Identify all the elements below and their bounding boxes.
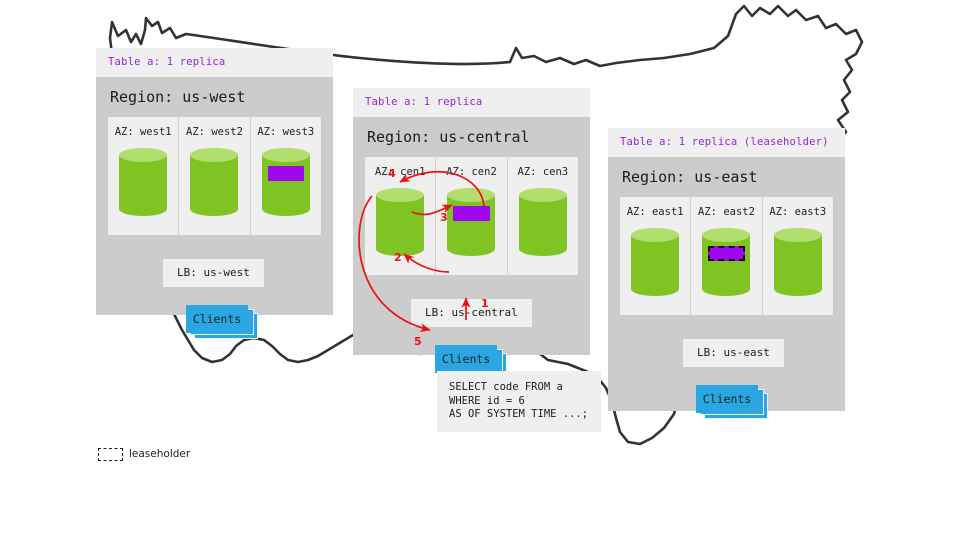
cylinder-top	[262, 148, 310, 162]
az-cell-east1[interactable]: AZ: east1	[620, 197, 691, 315]
az-label-cen2: AZ: cen2	[436, 166, 506, 179]
cylinder-top	[376, 188, 424, 202]
region-banner-us-central: Table a: 1 replica	[353, 88, 590, 117]
az-label-east1: AZ: east1	[620, 206, 690, 219]
az-cell-west2[interactable]: AZ: west2	[179, 117, 250, 235]
cylinder-body	[119, 155, 167, 209]
flow-step-number-1: 1	[481, 298, 489, 310]
cylinder-west1[interactable]	[119, 148, 167, 216]
cylinder-body	[702, 235, 750, 289]
cylinder-west3[interactable]	[262, 148, 310, 216]
load-balancer-us-west[interactable]: LB: us-west	[163, 259, 264, 287]
region-body-us-central: Region: us-central AZ: cen1 AZ: cen2	[353, 117, 590, 355]
az-cell-east2[interactable]: AZ: east2	[691, 197, 762, 315]
sql-query-box: SELECT code FROM a WHERE id = 6 AS OF SY…	[437, 371, 601, 432]
flow-step-number-4: 4	[388, 168, 396, 180]
az-label-west1: AZ: west1	[108, 126, 178, 139]
cylinder-body	[519, 195, 567, 249]
replica-range-cen2[interactable]	[453, 206, 489, 221]
az-row-us-east: AZ: east1 AZ: east2	[620, 197, 833, 315]
cylinder-body	[190, 155, 238, 209]
az-cell-cen3[interactable]: AZ: cen3	[508, 157, 578, 275]
cylinder-cen2[interactable]	[447, 188, 495, 256]
region-panel-us-east: Table a: 1 replica (leaseholder) Region:…	[608, 128, 845, 411]
region-title-us-central: Region: us-central	[365, 117, 578, 157]
cylinder-body	[631, 235, 679, 289]
replica-range-east2-leaseholder[interactable]	[708, 246, 744, 261]
cylinder-top	[631, 228, 679, 242]
flow-step-number-5: 5	[414, 336, 422, 348]
cylinder-east2[interactable]	[702, 228, 750, 296]
az-label-cen1: AZ: cen1	[365, 166, 435, 179]
cylinder-cen3[interactable]	[519, 188, 567, 256]
az-cell-west3[interactable]: AZ: west3	[251, 117, 321, 235]
diagram-canvas: Table a: 1 replica Region: us-west AZ: w…	[0, 0, 960, 540]
legend: leaseholder	[98, 448, 190, 461]
cylinder-east3[interactable]	[774, 228, 822, 296]
cylinder-east1[interactable]	[631, 228, 679, 296]
dashed-rect-icon	[98, 448, 123, 461]
region-title-us-east: Region: us-east	[620, 157, 833, 197]
cylinder-west2[interactable]	[190, 148, 238, 216]
flow-step-number-3: 3	[440, 212, 448, 224]
az-cell-west1[interactable]: AZ: west1	[108, 117, 179, 235]
flow-step-number-2: 2	[394, 252, 402, 264]
region-banner-us-west: Table a: 1 replica	[96, 48, 333, 77]
region-banner-us-east: Table a: 1 replica (leaseholder)	[608, 128, 845, 157]
region-panel-us-west: Table a: 1 replica Region: us-west AZ: w…	[96, 48, 333, 315]
clients-label-us-east: Clients	[696, 385, 758, 413]
load-balancer-us-central[interactable]: LB: us-central	[411, 299, 532, 327]
az-label-west2: AZ: west2	[179, 126, 249, 139]
cylinder-body	[262, 155, 310, 209]
replica-range-west3[interactable]	[268, 166, 304, 181]
cylinder-top	[774, 228, 822, 242]
clients-label-us-west: Clients	[186, 305, 248, 333]
region-body-us-west: Region: us-west AZ: west1 AZ: west2	[96, 77, 333, 315]
region-panel-us-central: Table a: 1 replica Region: us-central AZ…	[353, 88, 590, 355]
legend-label: leaseholder	[129, 448, 190, 461]
load-balancer-us-east[interactable]: LB: us-east	[683, 339, 784, 367]
az-label-east3: AZ: east3	[763, 206, 833, 219]
cylinder-body	[447, 195, 495, 249]
az-label-east2: AZ: east2	[691, 206, 761, 219]
clients-us-east[interactable]: Clients	[696, 385, 758, 417]
az-cell-east3[interactable]: AZ: east3	[763, 197, 833, 315]
az-row-us-west: AZ: west1 AZ: west2 AZ	[108, 117, 321, 235]
cylinder-body	[376, 195, 424, 249]
cylinder-body	[774, 235, 822, 289]
cylinder-cen1[interactable]	[376, 188, 424, 256]
cylinder-top	[519, 188, 567, 202]
clients-us-west[interactable]: Clients	[186, 305, 248, 337]
region-body-us-east: Region: us-east AZ: east1 AZ: east2	[608, 157, 845, 411]
az-label-cen3: AZ: cen3	[508, 166, 578, 179]
region-title-us-west: Region: us-west	[108, 77, 321, 117]
az-label-west3: AZ: west3	[251, 126, 321, 139]
cylinder-top	[119, 148, 167, 162]
clients-label-us-central: Clients	[435, 345, 497, 373]
